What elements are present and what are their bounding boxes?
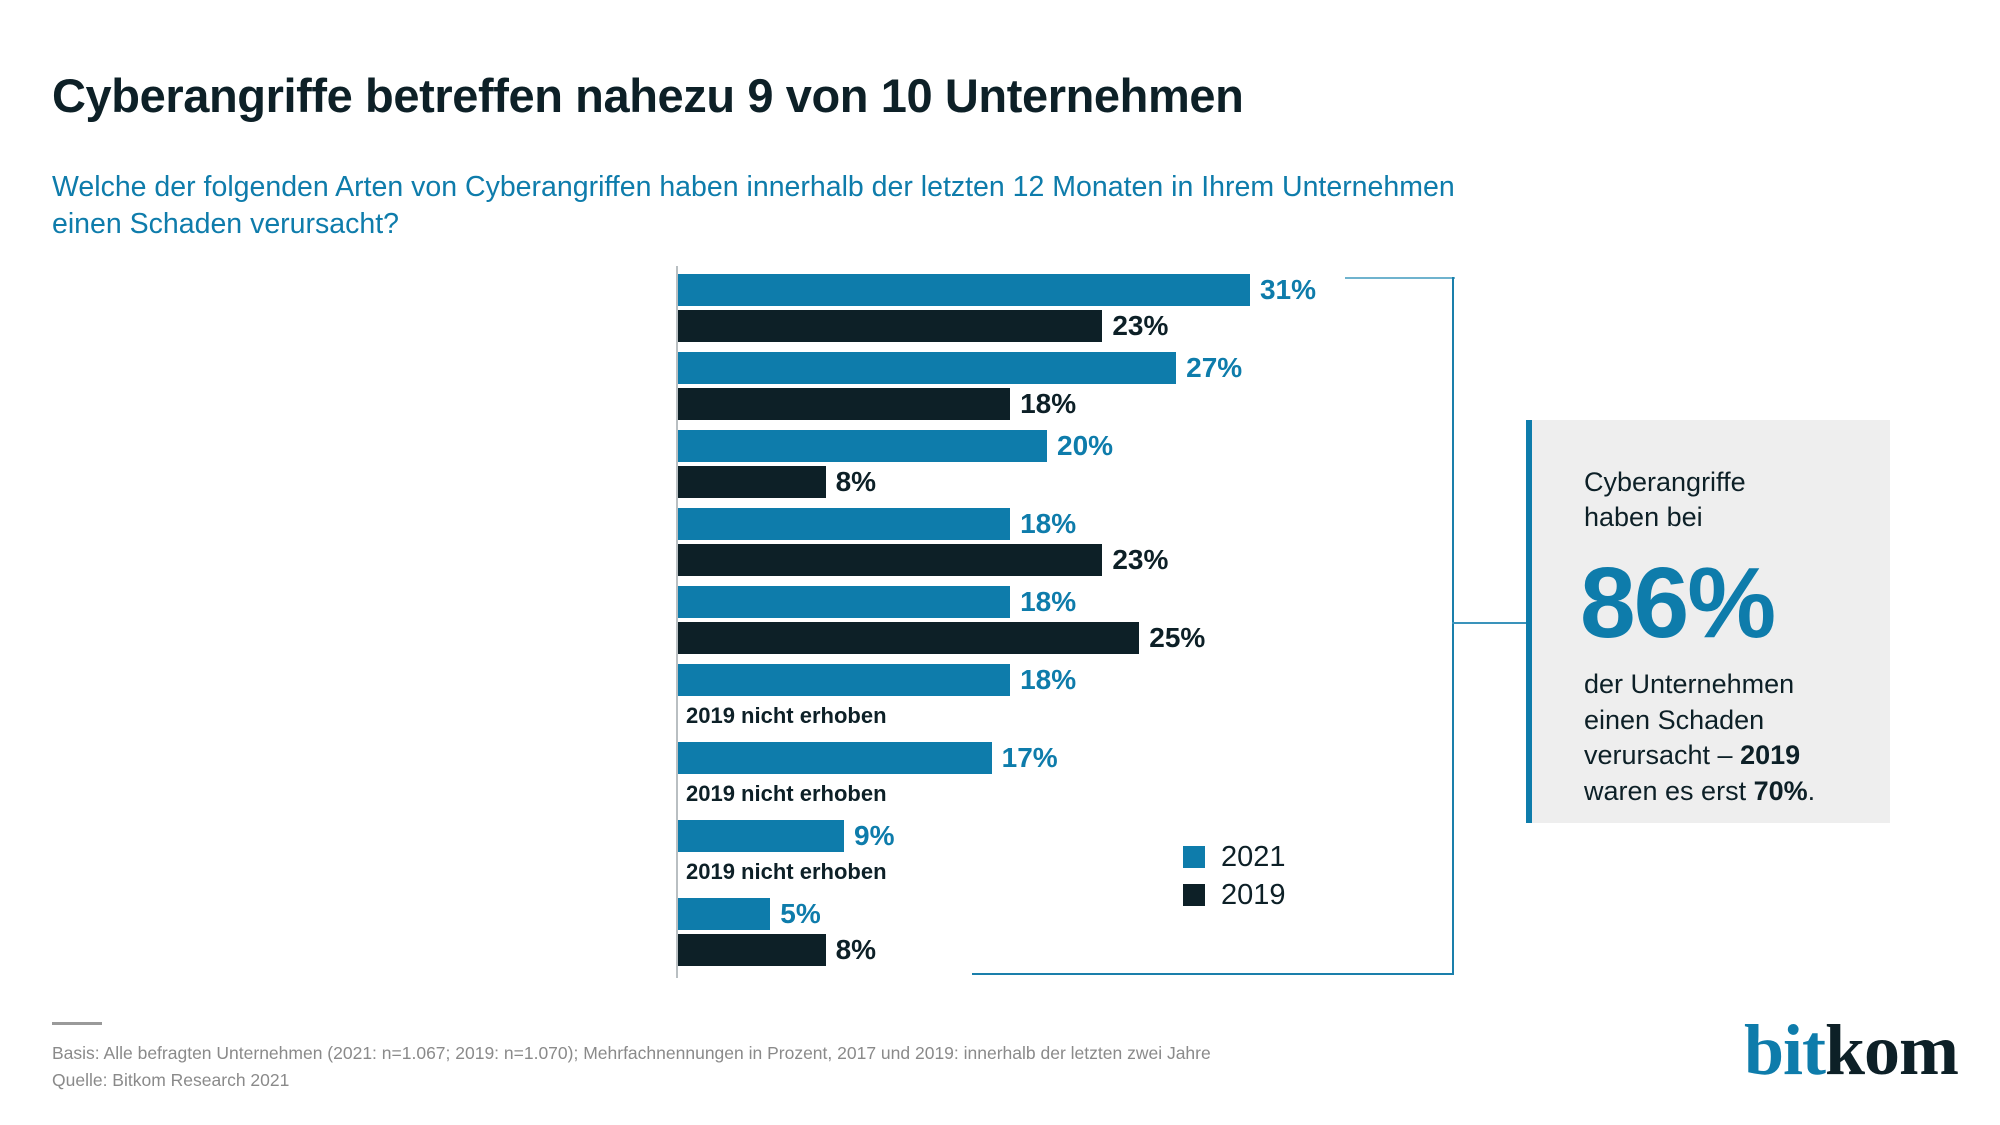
legend-swatch-icon-2021 bbox=[1183, 846, 1205, 868]
bar-2019 bbox=[678, 466, 826, 498]
bar-value-2019: 23% bbox=[1112, 544, 1168, 576]
infographic-page: Cyberangriffe betreffen nahezu 9 von 10 … bbox=[0, 0, 2000, 1125]
callout-tail-text: der Unternehmen einen Schaden verursacht… bbox=[1584, 667, 1864, 810]
legend-label-2021: 2021 bbox=[1221, 841, 1286, 874]
bar-value-2021: 5% bbox=[780, 898, 820, 930]
bar-2019 bbox=[678, 622, 1139, 654]
callout-headline-value: 86% bbox=[1580, 549, 1864, 657]
bar-2019 bbox=[678, 544, 1102, 576]
legend-swatch-icon-2019 bbox=[1183, 884, 1205, 906]
legend-item-2019: 2019 bbox=[1183, 876, 1286, 914]
logo-text-kom: kom bbox=[1825, 1010, 1958, 1090]
bracket-bottom-line bbox=[972, 973, 1454, 975]
legend-item-2021: 2021 bbox=[1183, 838, 1286, 876]
callout-tail-part2: waren es erst bbox=[1584, 776, 1754, 806]
legend-label-2019: 2019 bbox=[1221, 879, 1286, 912]
footer-divider bbox=[52, 1022, 102, 1025]
bar-value-2019: 8% bbox=[836, 934, 876, 966]
no-data-note: 2019 nicht erhoben bbox=[686, 778, 887, 810]
page-title: Cyberangriffe betreffen nahezu 9 von 10 … bbox=[52, 71, 1652, 122]
bar-2021 bbox=[678, 508, 1010, 540]
bar-2021 bbox=[678, 898, 770, 930]
bar-value-2021: 31% bbox=[1260, 274, 1316, 306]
bar-2021 bbox=[678, 274, 1250, 306]
bar-2019 bbox=[678, 934, 826, 966]
chart-legend: 2021 2019 bbox=[1183, 838, 1286, 914]
bar-2019 bbox=[678, 310, 1102, 342]
callout-content: Cyberangriffe haben bei 86% der Unterneh… bbox=[1584, 465, 1864, 810]
logo-text-bit: bit bbox=[1744, 1010, 1825, 1090]
callout-tail-bold-2019: 2019 bbox=[1740, 740, 1800, 770]
no-data-note: 2019 nicht erhoben bbox=[686, 700, 887, 732]
bar-value-2021: 18% bbox=[1020, 586, 1076, 618]
bar-value-2019: 23% bbox=[1112, 310, 1168, 342]
bar-value-2021: 17% bbox=[1002, 742, 1058, 774]
bar-2021 bbox=[678, 586, 1010, 618]
no-data-note: 2019 nicht erhoben bbox=[686, 856, 887, 888]
bar-value-2021: 18% bbox=[1020, 664, 1076, 696]
callout-lead-text: Cyberangriffe haben bei bbox=[1584, 465, 1864, 535]
bitkom-logo: bitkom bbox=[1744, 1014, 1958, 1086]
bar-2021 bbox=[678, 820, 844, 852]
footer-source-text: Basis: Alle befragten Unternehmen (2021:… bbox=[52, 1040, 1452, 1093]
bar-value-2021: 27% bbox=[1186, 352, 1242, 384]
callout-tail-bold-70: 70% bbox=[1754, 776, 1808, 806]
bar-value-2019: 25% bbox=[1149, 622, 1205, 654]
bar-2021 bbox=[678, 352, 1176, 384]
bar-value-2021: 20% bbox=[1057, 430, 1113, 462]
bracket-top-line bbox=[1345, 277, 1455, 279]
bar-value-2021: 18% bbox=[1020, 508, 1076, 540]
bar-2021 bbox=[678, 430, 1047, 462]
bar-2019 bbox=[678, 388, 1010, 420]
bar-value-2021: 9% bbox=[854, 820, 894, 852]
bracket-right-line bbox=[1452, 277, 1454, 975]
bar-2021 bbox=[678, 664, 1010, 696]
bar-2021 bbox=[678, 742, 992, 774]
callout-tail-part3: . bbox=[1808, 776, 1816, 806]
bar-value-2019: 18% bbox=[1020, 388, 1076, 420]
bar-value-2019: 8% bbox=[836, 466, 876, 498]
page-subtitle: Welche der folgenden Arten von Cyberangr… bbox=[52, 169, 1482, 245]
